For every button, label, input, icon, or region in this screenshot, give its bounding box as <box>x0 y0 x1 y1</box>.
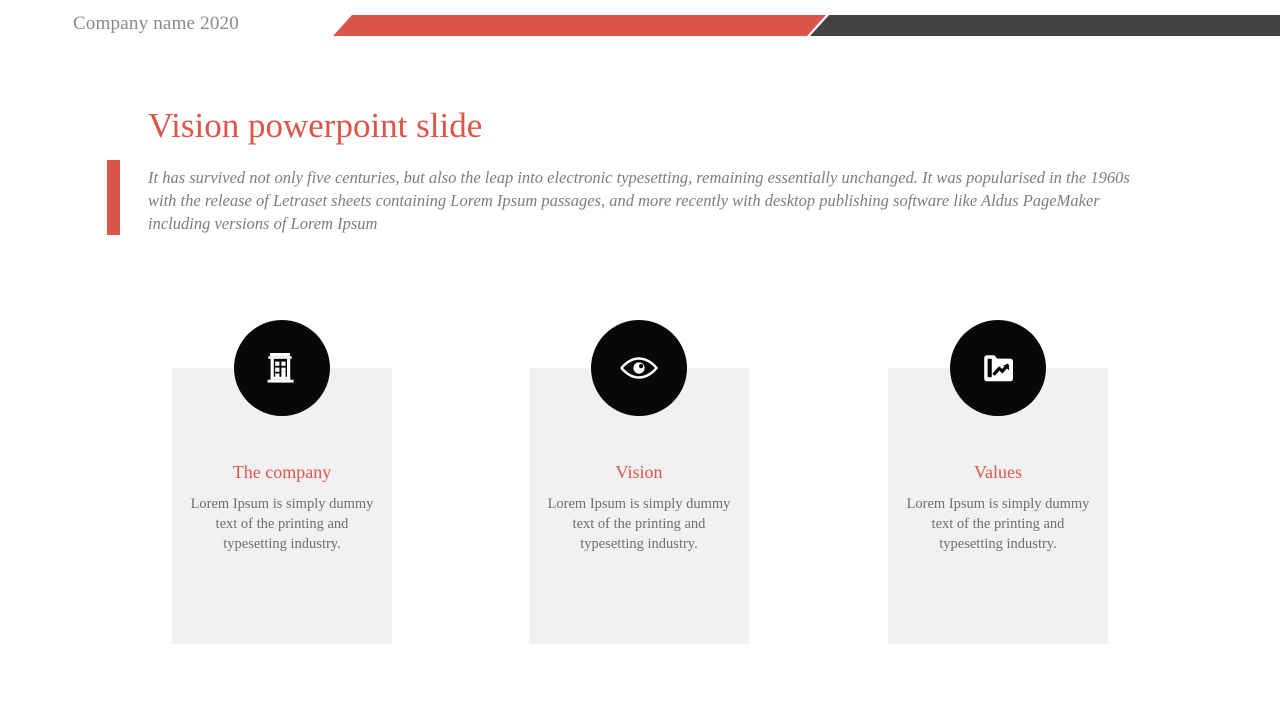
card-body-text: Lorem Ipsum is simply dummy text of the … <box>898 494 1098 554</box>
header-banner-dark <box>810 15 1280 36</box>
card-body-text: Lorem Ipsum is simply dummy text of the … <box>539 494 739 554</box>
card-heading: Values <box>888 461 1108 483</box>
card-body-text: Lorem Ipsum is simply dummy text of the … <box>182 494 382 554</box>
intro-paragraph: It has survived not only five centuries,… <box>148 166 1158 235</box>
card-heading: Vision <box>529 461 749 483</box>
building-icon <box>234 320 330 416</box>
card-vision[interactable]: Vision Lorem Ipsum is simply dummy text … <box>529 368 749 644</box>
card-heading: The company <box>172 461 392 483</box>
cards-row: The company Lorem Ipsum is simply dummy … <box>172 368 1108 644</box>
card-values[interactable]: Values Lorem Ipsum is simply dummy text … <box>888 368 1108 644</box>
intro-accent-bar <box>107 160 120 235</box>
eye-icon <box>591 320 687 416</box>
report-chart-icon <box>950 320 1046 416</box>
page-title: Vision powerpoint slide <box>148 104 482 148</box>
header-banner-red <box>333 15 826 36</box>
card-the-company[interactable]: The company Lorem Ipsum is simply dummy … <box>172 368 392 644</box>
presentation-slide: Company name 2020 Vision powerpoint slid… <box>0 0 1280 720</box>
company-name-label: Company name 2020 <box>73 11 239 37</box>
